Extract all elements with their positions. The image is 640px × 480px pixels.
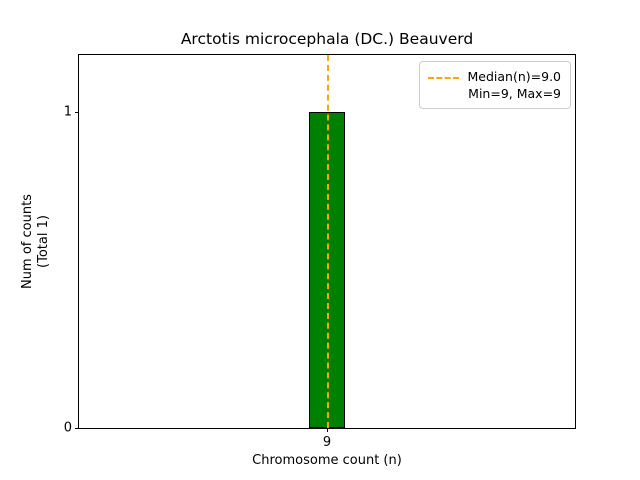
y-axis-label-line2: (Total 1)	[36, 215, 52, 268]
x-axis-label: Chromosome count (n)	[78, 453, 576, 468]
y-axis-label: Num of counts (Total 1)	[18, 54, 54, 429]
legend-label-minmax: Min=9, Max=9	[468, 85, 561, 102]
legend-entry-minmax: Min=9, Max=9	[428, 85, 562, 102]
ytick-label-0: 0	[64, 421, 72, 436]
ytick-mark-1	[75, 112, 79, 113]
y-axis-label-line1: Num of counts	[20, 194, 36, 289]
chart-title: Arctotis microcephala (DC.) Beauverd	[78, 30, 576, 48]
legend-entry-median: Median(n)=9.0	[428, 68, 562, 85]
median-line	[327, 55, 329, 428]
chart-figure: Arctotis microcephala (DC.) Beauverd 0 1…	[0, 0, 640, 480]
ytick-label-1: 1	[64, 104, 72, 119]
dashed-line-icon	[428, 71, 459, 83]
plot-area	[79, 55, 575, 428]
xtick-mark-9	[327, 428, 328, 432]
legend-label-median: Median(n)=9.0	[468, 68, 562, 85]
chart-legend: Median(n)=9.0 Min=9, Max=9	[419, 61, 572, 109]
xtick-label-9: 9	[323, 435, 331, 450]
plot-axes: 0 1 9 Median(n)=9.0 Min=9, Max=9	[78, 54, 576, 429]
ytick-mark-0	[75, 428, 79, 429]
